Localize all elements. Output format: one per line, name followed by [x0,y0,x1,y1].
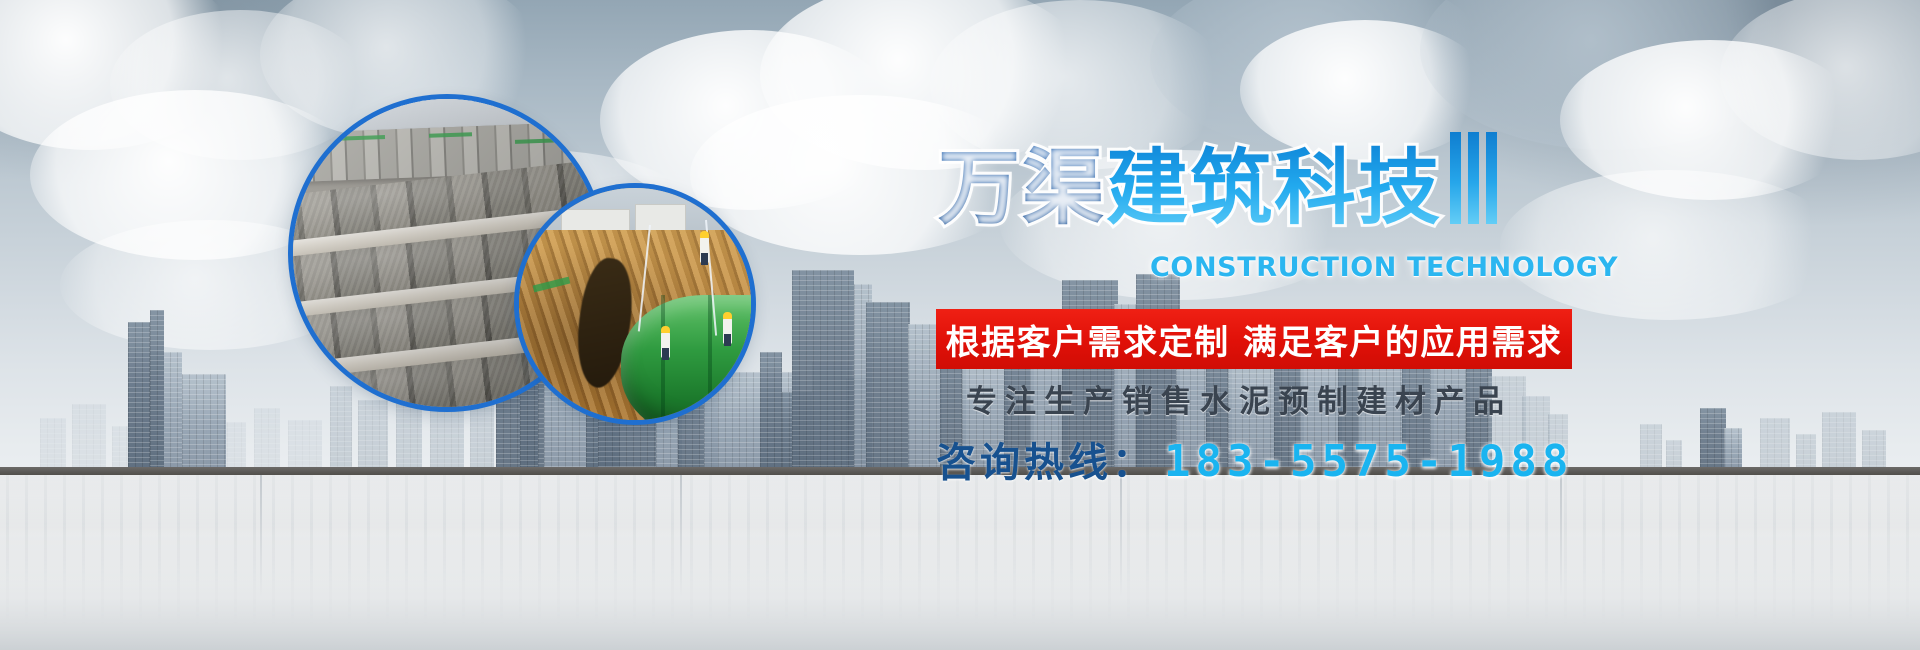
brand-name-light: 建筑科技 [1106,141,1442,236]
hotline-label: 咨询热线： [936,430,1156,488]
photo-septic-tank-installation [519,188,751,420]
brand-name-dark: 万渠 [938,141,1106,236]
brand-english-subtitle: CONSTRUCTION TECHNOLOGY [1150,252,1618,283]
hotline-block: 咨询热线： 183-5575-1988 [936,430,1573,488]
construction-worker [700,237,709,263]
brand-bars-decoration [1450,132,1497,224]
ground-sheen [0,475,1920,650]
brand-title: 万渠建筑科技 万渠建筑科技 [938,132,1497,230]
excavation-site-image [519,188,751,420]
secondary-slogan-text: 专注生产销售水泥预制建材产品 [966,376,1512,421]
primary-slogan-text: 根据客户需求定制 满足客户的应用需求 [946,315,1563,364]
promotional-banner: 万渠建筑科技 万渠建筑科技 CONSTRUCTION TECHNOLOGY 根据… [0,0,1920,650]
hotline-number[interactable]: 183-5575-1988 [1164,436,1573,487]
reflective-ground [0,475,1920,650]
construction-worker [661,332,670,358]
construction-worker [723,318,732,344]
primary-slogan-bar: 根据客户需求定制 满足客户的应用需求 [936,309,1572,369]
